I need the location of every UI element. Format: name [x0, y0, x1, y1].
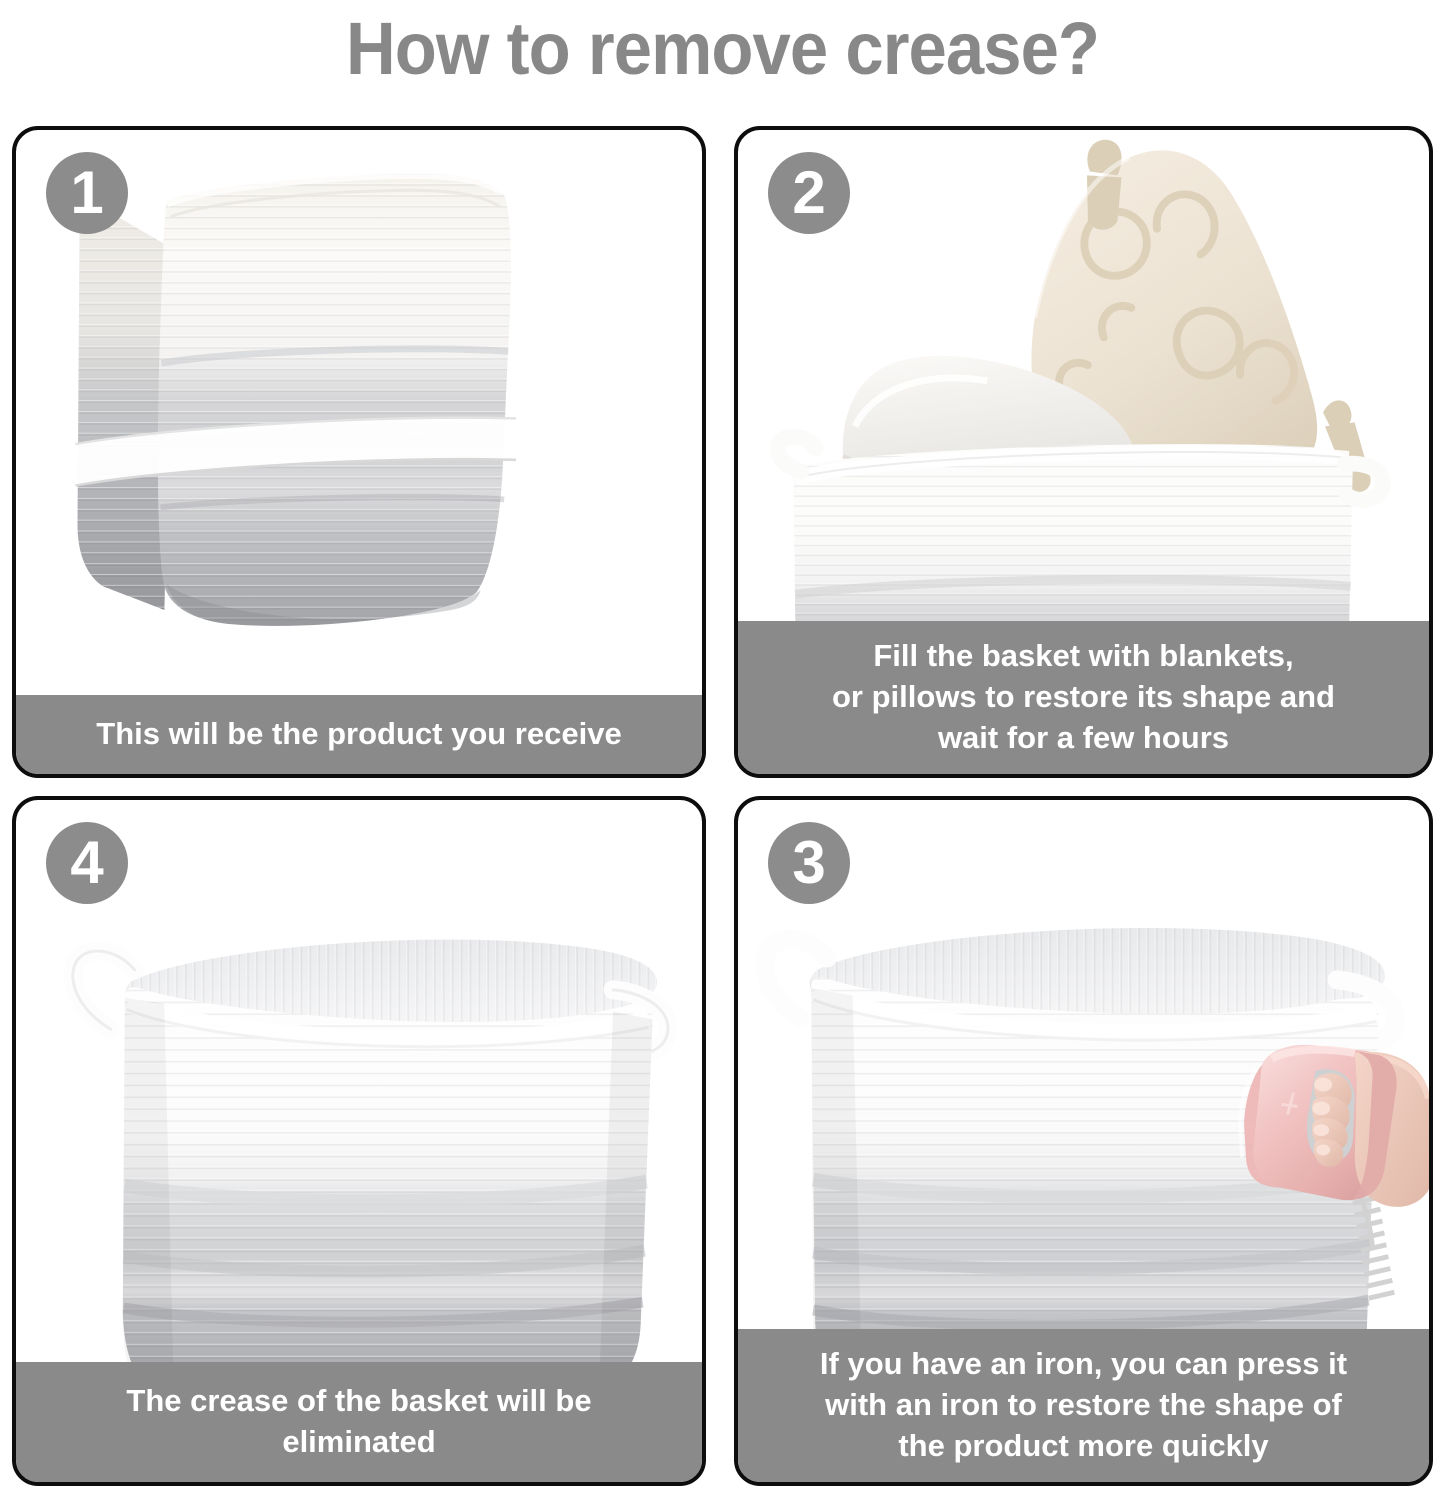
step-badge-2: 2 [768, 152, 850, 234]
step-badge-4: 4 [46, 822, 128, 904]
step-badge-3: 3 [768, 822, 850, 904]
caption-line: This will be the product you receive [30, 713, 688, 754]
step-panel-4: 4 The crease of the basket will be elimi… [12, 796, 706, 1486]
step-panel-2: 2 Fill the basket with blankets, or pill… [734, 126, 1433, 778]
step-caption-2: Fill the basket with blankets, or pillow… [738, 621, 1429, 774]
page-title: How to remove crease? [51, 6, 1395, 92]
step-caption-3: If you have an iron, you can press it wi… [738, 1329, 1429, 1482]
caption-line: Fill the basket with blankets, [750, 635, 1417, 676]
step-panel-1: 1 This will be the product you receive [12, 126, 706, 778]
caption-line: The crease of the basket will be [30, 1380, 688, 1421]
caption-line: or pillows to restore its shape and [750, 676, 1417, 717]
caption-line: the product more quickly [750, 1425, 1417, 1466]
infographic-page: How to remove crease? [0, 0, 1445, 1497]
step-1-illustration [16, 130, 702, 774]
folded-basket-body [158, 173, 511, 626]
step-panel-3: 3 If you have an iron, you can press it … [734, 796, 1433, 1486]
rope-basket-4 [123, 987, 653, 1422]
caption-line: with an iron to restore the shape of [750, 1384, 1417, 1425]
step-caption-1: This will be the product you receive [16, 695, 702, 774]
caption-line: wait for a few hours [750, 717, 1417, 758]
step-badge-1: 1 [46, 152, 128, 234]
caption-line: eliminated [30, 1421, 688, 1462]
folded-basket-graphic [16, 130, 702, 774]
step-caption-4: The crease of the basket will be elimina… [16, 1362, 702, 1482]
folded-basket-side-fold [77, 208, 172, 610]
caption-line: If you have an iron, you can press it [750, 1343, 1417, 1384]
